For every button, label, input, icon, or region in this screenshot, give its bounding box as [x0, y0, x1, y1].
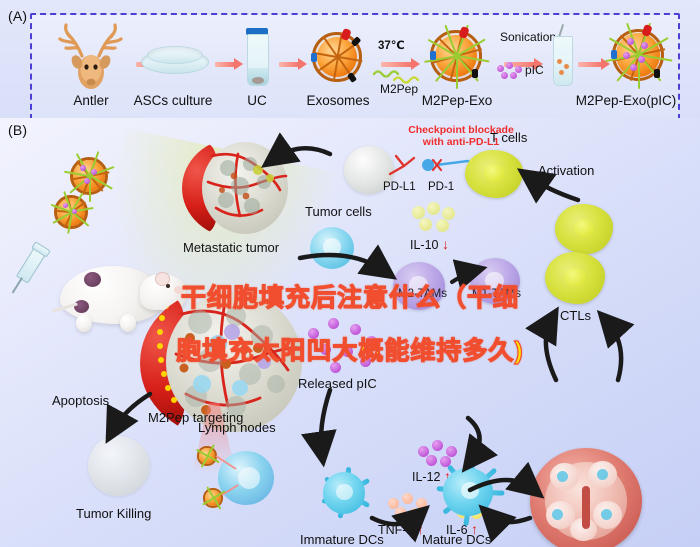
m2-tam-cell-icon [306, 223, 358, 273]
ctl-cell-icon-2 [545, 252, 605, 304]
label-ctls: CTLs [560, 308, 591, 323]
m2pep-exosome-icon [427, 27, 485, 85]
cytokine-il-10: IL-10 ↓ [410, 236, 449, 252]
panel-a-annotation-temperature: 37℃ [378, 38, 405, 52]
sonication-tube-icon [551, 32, 573, 88]
m2pep-exosome-plc-icon [608, 25, 668, 85]
lymph-node-icon [530, 448, 642, 547]
cytokine-il-10-arrow: ↓ [442, 236, 449, 252]
panel-a-label-uc: UC [232, 93, 282, 108]
petri-dish-icon [141, 46, 207, 76]
panel-b: (B) [0, 118, 700, 547]
panel-b-letter: (B) [8, 122, 27, 138]
label-metastatic-tumor: Metastatic tumor [183, 240, 279, 255]
panel-a-label-m2pep-exo: M2Pep-Exo [408, 93, 506, 108]
nanoparticle-icon-2 [52, 193, 90, 231]
label-m2-tams: M2-TAMs [398, 288, 447, 300]
label-pd-1: PD-1 [428, 181, 454, 193]
m2pep-targeting-macrophage-icon [196, 443, 282, 513]
label-m2pep-targeting: M2Pep targeting [148, 410, 243, 425]
centrifuge-tube-icon [245, 28, 269, 86]
exosome-icon [309, 29, 365, 85]
scientific-figure: (A) [0, 0, 700, 547]
released-plc-particles-icon [306, 318, 380, 374]
il-10-particles-icon [412, 202, 464, 234]
apoptotic-cell-icon [88, 436, 150, 496]
arrow-asc-to-uc [215, 58, 243, 70]
label-m1-tams: M1-TAMs [472, 288, 521, 300]
t-cell-icon [465, 150, 523, 198]
immature-dc-icon [306, 456, 382, 530]
ctl-cell-icon-1 [555, 204, 613, 254]
label-tumor-cells: Tumor cells [305, 204, 372, 219]
label-t-cells: T cells [490, 130, 527, 145]
panel-a: (A) [0, 0, 700, 118]
label-activation: Activation [538, 163, 594, 178]
cytokine-tnf-alpha: TNF-α ↑ [378, 521, 424, 537]
label-tumor-killing: Tumor Killing [76, 506, 151, 521]
panel-a-label-asc: ASCs culture [123, 93, 223, 108]
m2-tam-macrophage-icon [393, 262, 445, 310]
checkpoint-title-line2: with anti-PD-L1 [366, 136, 556, 149]
label-mature-dcs: Mature DCs [422, 532, 491, 547]
label-pd-l1: PD-L1 [383, 181, 416, 193]
nanoparticle-icon-1 [67, 154, 111, 198]
panel-a-letter: (A) [8, 8, 27, 24]
panel-a-label-m2pep-exo-plc: M2Pep-Exo(pIC) [556, 93, 696, 108]
panel-a-label-exosomes: Exosomes [297, 93, 379, 108]
plc-particles-icon [497, 62, 527, 80]
label-apoptosis: Apoptosis [52, 393, 109, 408]
metastatic-tumor-icon [182, 138, 292, 238]
deer-icon [52, 22, 130, 94]
cytokine-il-10-name: IL-10 [410, 238, 439, 252]
panel-a-annotation-sonication: Sonication [500, 30, 556, 44]
mature-dc-icon [424, 450, 512, 534]
label-released-plc: Released pIC [298, 376, 377, 391]
arrow-uc-to-exosomes [279, 58, 307, 70]
label-immature-dcs: Immature DCs [300, 532, 384, 547]
